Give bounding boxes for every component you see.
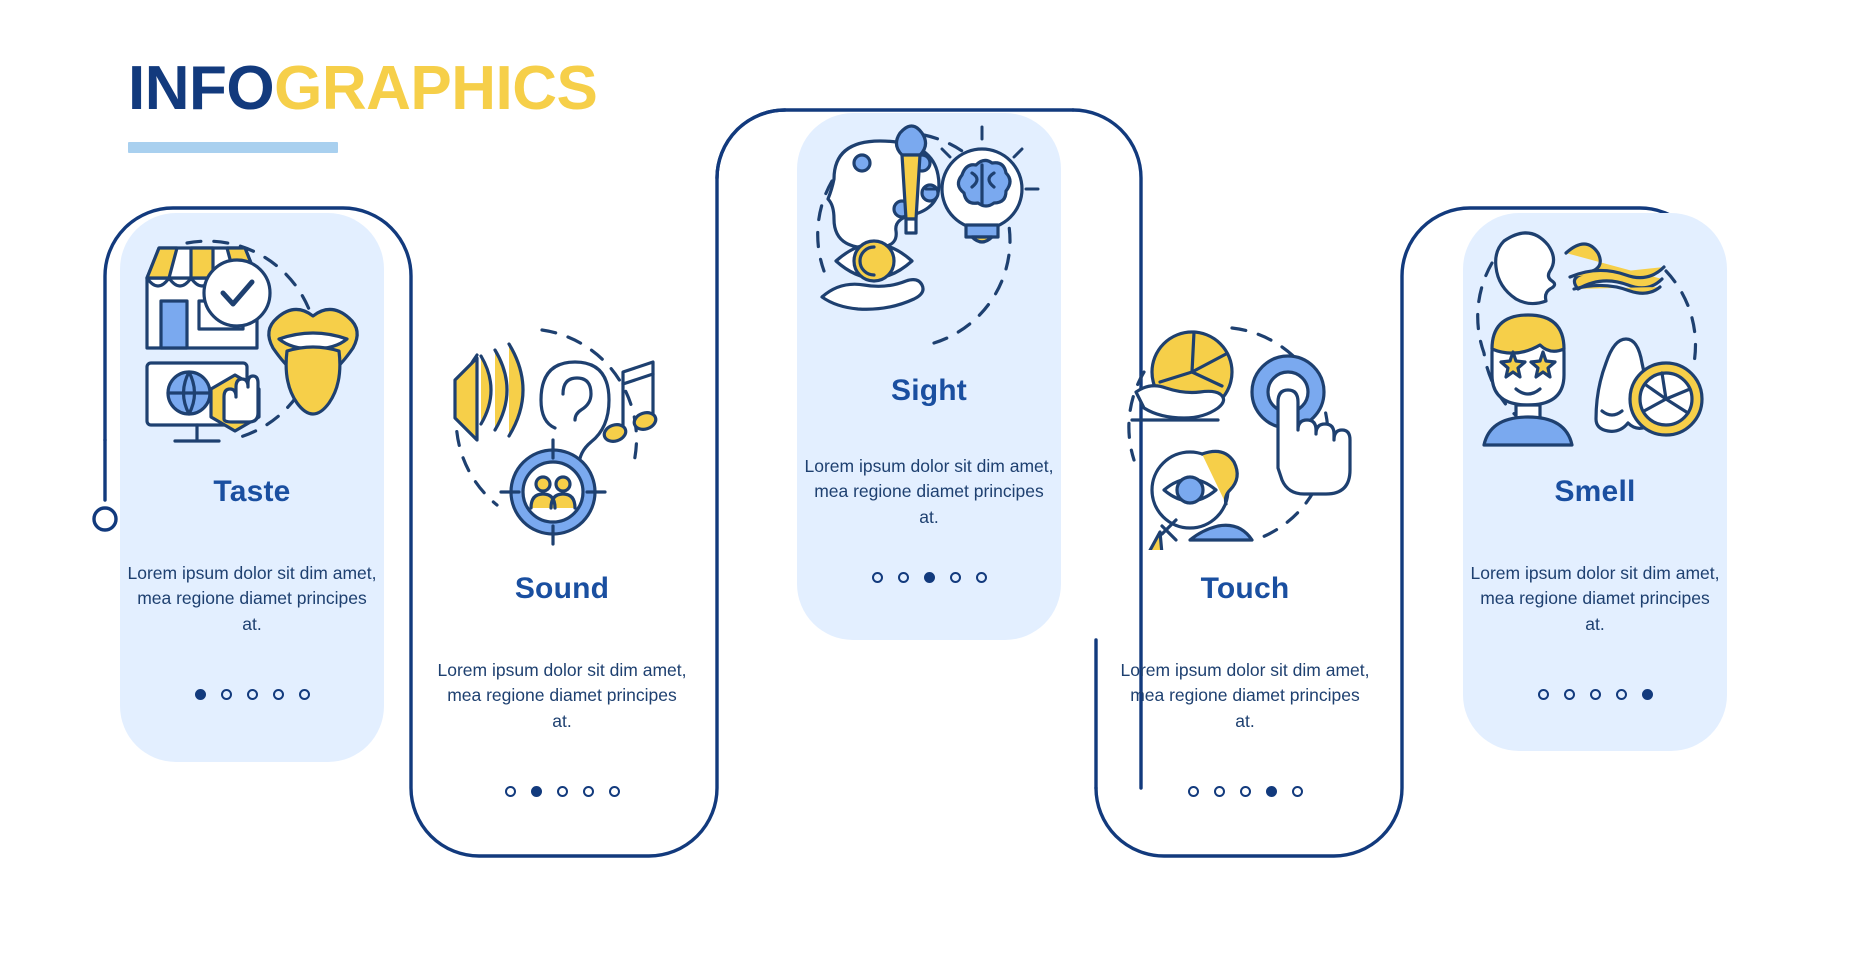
progress-dot[interactable] [609, 786, 620, 797]
step-body-sound: Lorem ipsum dolor sit dim amet, mea regi… [437, 658, 687, 734]
progress-dot[interactable] [1642, 689, 1653, 700]
progress-dot[interactable] [1214, 786, 1225, 797]
step-progress-dots-touch[interactable] [1188, 786, 1303, 797]
step-body-sight: Lorem ipsum dolor sit dim amet, mea regi… [804, 454, 1054, 530]
progress-dot[interactable] [1616, 689, 1627, 700]
step-body-smell: Lorem ipsum dolor sit dim amet, mea regi… [1470, 561, 1720, 637]
step-card-sound[interactable]: Sound Lorem ipsum dolor sit dim amet, me… [430, 310, 694, 859]
step-card-taste[interactable]: Taste Lorem ipsum dolor sit dim amet, me… [120, 213, 384, 762]
progress-dot[interactable] [1266, 786, 1277, 797]
sight-illustration [797, 113, 1061, 368]
step-title-sound: Sound [515, 572, 609, 606]
progress-dot[interactable] [1188, 786, 1199, 797]
step-title-touch: Touch [1201, 572, 1290, 606]
taste-illustration [120, 213, 384, 463]
infographic-canvas: INFOGRAPHICS [0, 0, 1852, 980]
progress-dot[interactable] [976, 572, 987, 583]
progress-dot[interactable] [1240, 786, 1251, 797]
step-title-smell: Smell [1554, 475, 1635, 509]
sound-illustration [430, 310, 694, 560]
step-card-smell[interactable]: Smell Lorem ipsum dolor sit dim amet, me… [1463, 213, 1727, 751]
page-title-text: INFOGRAPHICS [128, 58, 597, 120]
progress-dot[interactable] [924, 572, 935, 583]
progress-dot[interactable] [1590, 689, 1601, 700]
progress-dot[interactable] [583, 786, 594, 797]
step-progress-dots-sight[interactable] [872, 572, 987, 583]
page-title-part-2: GRAPHICS [274, 54, 597, 123]
progress-dot[interactable] [247, 689, 258, 700]
progress-dot[interactable] [898, 572, 909, 583]
step-card-touch[interactable]: Touch Lorem ipsum dolor sit dim amet, me… [1113, 310, 1377, 859]
step-title-taste: Taste [213, 475, 290, 509]
step-progress-dots-smell[interactable] [1538, 689, 1653, 700]
touch-illustration [1113, 310, 1377, 560]
progress-dot[interactable] [299, 689, 310, 700]
progress-dot[interactable] [273, 689, 284, 700]
step-progress-dots-sound[interactable] [505, 786, 620, 797]
smell-illustration [1463, 213, 1727, 463]
step-progress-dots-taste[interactable] [195, 689, 310, 700]
progress-dot[interactable] [950, 572, 961, 583]
step-body-touch: Lorem ipsum dolor sit dim amet, mea regi… [1120, 658, 1370, 734]
progress-dot[interactable] [221, 689, 232, 700]
progress-dot[interactable] [557, 786, 568, 797]
page-title: INFOGRAPHICS [128, 58, 597, 153]
step-body-taste: Lorem ipsum dolor sit dim amet, mea regi… [127, 561, 377, 637]
step-card-sight[interactable]: Sight Lorem ipsum dolor sit dim amet, me… [797, 113, 1061, 640]
progress-dot[interactable] [531, 786, 542, 797]
step-title-sight: Sight [891, 374, 967, 408]
progress-dot[interactable] [872, 572, 883, 583]
page-title-part-1: INFO [128, 54, 274, 123]
progress-dot[interactable] [1538, 689, 1549, 700]
progress-dot[interactable] [1564, 689, 1575, 700]
progress-dot[interactable] [1292, 786, 1303, 797]
progress-dot[interactable] [505, 786, 516, 797]
progress-dot[interactable] [195, 689, 206, 700]
title-underline-bar [128, 142, 338, 153]
